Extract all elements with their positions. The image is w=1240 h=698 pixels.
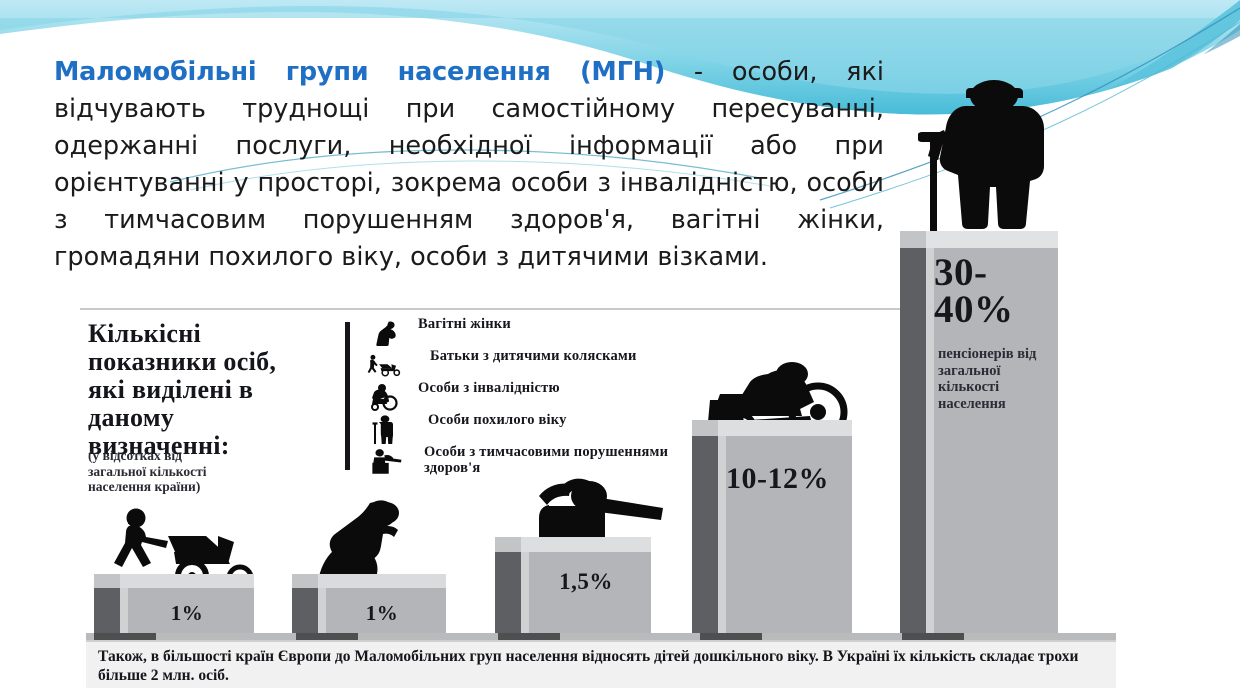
presentation-slide: Маломобільні групи населення (МГН) - осо… xyxy=(0,0,1240,698)
legend-label: Батьки з дитячими колясками xyxy=(366,348,696,364)
infographic-legend: Вагітні жінки Батьки з дитячими коляскам… xyxy=(366,316,696,478)
bar-value-label: 10-12% xyxy=(726,464,852,494)
injured-person-icon xyxy=(366,446,406,476)
infographic: Кількісні показники осіб, які виділені в… xyxy=(80,300,1120,680)
bar-column-elderly-person: 30-40% пенсіонерів від загальної кількос… xyxy=(900,248,1058,634)
legend-item-pregnant-woman: Вагітні жінки xyxy=(366,316,696,346)
legend-item-parent-with-stroller: Батьки з дитячими колясками xyxy=(366,348,696,378)
bar-value-label: 1% xyxy=(120,602,254,624)
definition-paragraph: Маломобільні групи населення (МГН) - осо… xyxy=(54,54,884,276)
elderly-person-icon xyxy=(918,76,1068,254)
legend-label: Особи похилого віку xyxy=(366,412,696,428)
bar-column-pregnant-woman: 1% xyxy=(292,588,446,634)
bar-column-wheelchair-user: 10-12% xyxy=(692,436,852,634)
bar-annotation-label: пенсіонерів від загальної кількості насе… xyxy=(938,346,1038,412)
bar-value-label: 1,5% xyxy=(521,570,651,594)
legend-label: Особи з інвалідністю xyxy=(366,380,696,396)
bar-column-injured-person: 1,5% xyxy=(495,552,651,634)
elderly-person-icon xyxy=(366,414,406,444)
bar-value-label: 30-40% xyxy=(934,254,1058,328)
vertical-divider xyxy=(345,322,350,470)
infographic-caption: Також, в більшості країн Європи до Малом… xyxy=(86,642,1116,685)
bar-value-label: 1% xyxy=(318,602,446,624)
bar-column-parent-with-stroller: 1% xyxy=(94,588,254,634)
legend-label: Вагітні жінки xyxy=(366,316,696,332)
divider-rule xyxy=(80,308,912,310)
infographic-title: Кількісні показники осіб, які виділені в… xyxy=(88,320,318,460)
parent-with-stroller-icon xyxy=(366,350,406,380)
infographic-subtitle: (у відсотках від загальної кількості нас… xyxy=(88,448,238,495)
definition-body: - особи, які відчувають труднощі при сам… xyxy=(54,57,884,272)
pregnant-woman-icon xyxy=(366,318,406,348)
wheelchair-user-icon xyxy=(366,382,406,412)
definition-term: Маломобільні групи населення (МГН) xyxy=(54,57,665,87)
infographic-caption-bar: Також, в більшості країн Європи до Малом… xyxy=(86,640,1116,688)
legend-item-elderly-person: Особи похилого віку xyxy=(366,412,696,442)
legend-item-wheelchair-user: Особи з інвалідністю xyxy=(366,380,696,410)
